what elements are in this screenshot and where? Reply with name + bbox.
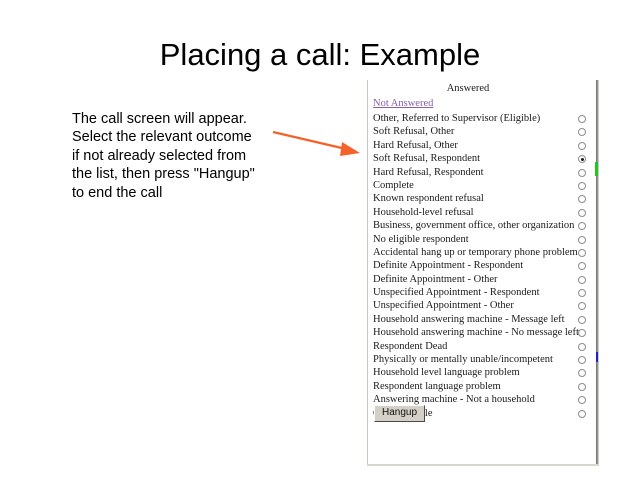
outcome-label: Household answering machine - No message…: [373, 326, 579, 339]
outcome-row[interactable]: Other, Referred to Supervisor (Eligible): [368, 112, 596, 125]
outcome-label: Known respondent refusal: [373, 192, 484, 205]
outcome-radio[interactable]: [578, 236, 586, 244]
outcome-row[interactable]: Household answering machine - No message…: [368, 326, 596, 339]
outcome-row[interactable]: Hard Refusal, Respondent: [368, 166, 596, 179]
instruction-line: Select the relevant outcome: [72, 128, 287, 146]
outcome-row[interactable]: Known respondent refusal: [368, 192, 596, 205]
outcome-row[interactable]: Unspecified Appointment - Other: [368, 299, 596, 312]
outcome-label: Household level language problem: [373, 366, 520, 379]
outcome-radio[interactable]: [578, 396, 586, 404]
outcome-radio[interactable]: [578, 169, 586, 177]
outcome-row[interactable]: Unspecified Appointment - Respondent: [368, 286, 596, 299]
outcome-label: No eligible respondent: [373, 233, 469, 246]
outcome-radio[interactable]: [578, 142, 586, 150]
outcome-label: Hard Refusal, Respondent: [373, 166, 484, 179]
scrollbar-marker-green: [595, 162, 598, 176]
outcome-row[interactable]: Household answering machine - Message le…: [368, 313, 596, 326]
outcome-radio[interactable]: [578, 289, 586, 297]
outcome-radio[interactable]: [578, 410, 586, 418]
answered-column-header: Answered: [368, 83, 568, 94]
outcome-label: Respondent Dead: [373, 340, 447, 353]
window-scrollbar-edge[interactable]: [595, 80, 599, 466]
outcome-row[interactable]: Business, government office, other organ…: [368, 219, 596, 232]
outcome-radio[interactable]: [578, 249, 586, 257]
call-outcome-list[interactable]: Other, Referred to Supervisor (Eligible)…: [368, 112, 596, 420]
outcome-row[interactable]: Household level language problem: [368, 366, 596, 379]
instruction-line: if not already selected from: [72, 147, 287, 165]
outcome-label: Other, Referred to Supervisor (Eligible): [373, 112, 540, 125]
scrollbar-marker-blue: [596, 352, 598, 362]
outcome-label: Definite Appointment - Other: [373, 273, 498, 286]
outcome-row[interactable]: Soft Refusal, Other: [368, 125, 596, 138]
outcome-radio[interactable]: [578, 356, 586, 364]
outcome-radio[interactable]: [578, 316, 586, 324]
outcome-label: Accidental hang up or temporary phone pr…: [373, 246, 578, 259]
outcome-radio[interactable]: [578, 209, 586, 217]
outcome-radio[interactable]: [578, 128, 586, 136]
outcome-radio[interactable]: [578, 383, 586, 391]
outcome-row[interactable]: Hard Refusal, Other: [368, 139, 596, 152]
not-answered-link[interactable]: Not Answered: [373, 98, 433, 109]
outcome-row[interactable]: Household-level refusal: [368, 206, 596, 219]
instruction-line: the list, then press "Hangup": [72, 165, 287, 183]
call-screen-screenshot: Answered Not Answered Other, Referred to…: [367, 80, 596, 466]
outcome-row[interactable]: Respondent language problem: [368, 380, 596, 393]
outcome-radio[interactable]: [578, 155, 586, 163]
outcome-label: Household answering machine - Message le…: [373, 313, 565, 326]
outcome-radio[interactable]: [578, 343, 586, 351]
outcome-label: Soft Refusal, Respondent: [373, 152, 480, 165]
outcome-label: Unspecified Appointment - Respondent: [373, 286, 540, 299]
outcome-label: Business, government office, other organ…: [373, 219, 574, 232]
outcome-row[interactable]: Definite Appointment - Other: [368, 273, 596, 286]
outcome-row[interactable]: Definite Appointment - Respondent: [368, 259, 596, 272]
outcome-row[interactable]: No eligible respondent: [368, 233, 596, 246]
hangup-button[interactable]: Hangup: [374, 405, 425, 422]
outcome-label: Household-level refusal: [373, 206, 474, 219]
outcome-radio[interactable]: [578, 182, 586, 190]
instruction-line: to end the call: [72, 184, 287, 202]
outcome-radio[interactable]: [578, 222, 586, 230]
instruction-text: The call screen will appear. Select the …: [72, 110, 287, 202]
outcome-row[interactable]: Physically or mentally unable/incompeten…: [368, 353, 596, 366]
outcome-row[interactable]: Accidental hang up or temporary phone pr…: [368, 246, 596, 259]
outcome-label: Unspecified Appointment - Other: [373, 299, 514, 312]
instruction-line: The call screen will appear.: [72, 110, 287, 128]
outcome-label: Physically or mentally unable/incompeten…: [373, 353, 553, 366]
outcome-row[interactable]: Soft Refusal, Respondent: [368, 152, 596, 165]
outcome-label: Soft Refusal, Other: [373, 125, 454, 138]
outcome-radio[interactable]: [578, 262, 586, 270]
outcome-label: Respondent language problem: [373, 380, 501, 393]
outcome-radio[interactable]: [578, 276, 586, 284]
outcome-label: Complete: [373, 179, 414, 192]
outcome-label: Definite Appointment - Respondent: [373, 259, 523, 272]
outcome-radio[interactable]: [578, 302, 586, 310]
outcome-radio[interactable]: [578, 369, 586, 377]
outcome-row[interactable]: Respondent Dead: [368, 340, 596, 353]
outcome-radio[interactable]: [578, 329, 586, 337]
outcome-radio[interactable]: [578, 115, 586, 123]
page-title: Placing a call: Example: [0, 36, 640, 74]
screenshot-bottom-edge: [367, 464, 599, 466]
outcome-label: Hard Refusal, Other: [373, 139, 458, 152]
outcome-radio[interactable]: [578, 195, 586, 203]
outcome-row[interactable]: Complete: [368, 179, 596, 192]
